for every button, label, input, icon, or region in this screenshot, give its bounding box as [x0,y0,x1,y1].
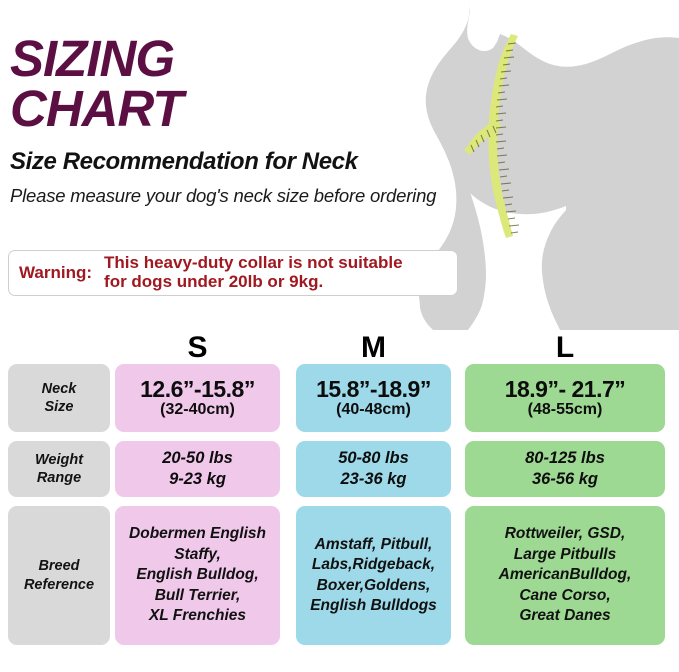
neck-size-cell-l: 18.9”- 21.7” (48-55cm) [465,364,665,432]
row-label-breed-reference: Breed Reference [8,506,110,645]
weight-range-value-m: 50-80 lbs 23-36 kg [338,448,409,491]
breed-list-s: Dobermen English Staffy, English Bulldog… [123,524,272,626]
neck-size-cm-m: (40-48cm) [336,401,411,419]
warning-box: Warning: This heavy-duty collar is not s… [8,250,458,296]
row-label-weight-range: Weight Range [8,441,110,497]
neck-size-inches-l: 18.9”- 21.7” [505,377,626,401]
breed-reference-cell-s: Dobermen English Staffy, English Bulldog… [115,506,280,645]
instruction-text: Please measure your dog's neck size befo… [10,185,480,207]
neck-size-inches-s: 12.6”-15.8” [140,377,255,401]
row-label-neck-size: Neck Size [8,364,110,432]
size-header-m: M [296,332,451,364]
table-row: Neck Size 12.6”-15.8” (32-40cm) 15.8”-18… [0,364,679,432]
neck-size-inches-m: 15.8”-18.9” [316,377,431,401]
breed-list-l: Rottweiler, GSD, Large Pitbulls American… [493,524,638,626]
subtitle: Size Recommendation for Neck [10,148,480,176]
breed-reference-cell-m: Amstaff, Pitbull, Labs,Ridgeback, Boxer,… [296,506,451,645]
weight-range-cell-s: 20-50 lbs 9-23 kg [115,441,280,497]
sizing-table: S M L Neck Size 12.6”-15.8” (32-40cm) 15… [0,332,679,654]
neck-size-cell-s: 12.6”-15.8” (32-40cm) [115,364,280,432]
breed-list-m: Amstaff, Pitbull, Labs,Ridgeback, Boxer,… [304,535,443,617]
weight-range-value-l: 80-125 lbs 36-56 kg [525,448,605,491]
breed-reference-cell-l: Rottweiler, GSD, Large Pitbulls American… [465,506,665,645]
table-row: Weight Range 20-50 lbs 9-23 kg 50-80 lbs… [0,441,679,497]
neck-size-cm-s: (32-40cm) [160,401,235,419]
weight-range-value-s: 20-50 lbs 9-23 kg [162,448,233,491]
page-title: SIZING CHART [10,34,480,134]
neck-size-cell-m: 15.8”-18.9” (40-48cm) [296,364,451,432]
size-header-s: S [115,332,280,364]
size-header-row: S M L [0,332,679,364]
warning-label: Warning: [9,263,92,283]
size-header-l: L [465,332,665,364]
weight-range-cell-m: 50-80 lbs 23-36 kg [296,441,451,497]
warning-message: This heavy-duty collar is not suitable f… [92,254,403,291]
table-row: Breed Reference Dobermen English Staffy,… [0,506,679,645]
header-block: SIZING CHART Size Recommendation for Nec… [10,34,480,207]
weight-range-cell-l: 80-125 lbs 36-56 kg [465,441,665,497]
neck-size-cm-l: (48-55cm) [528,401,603,419]
